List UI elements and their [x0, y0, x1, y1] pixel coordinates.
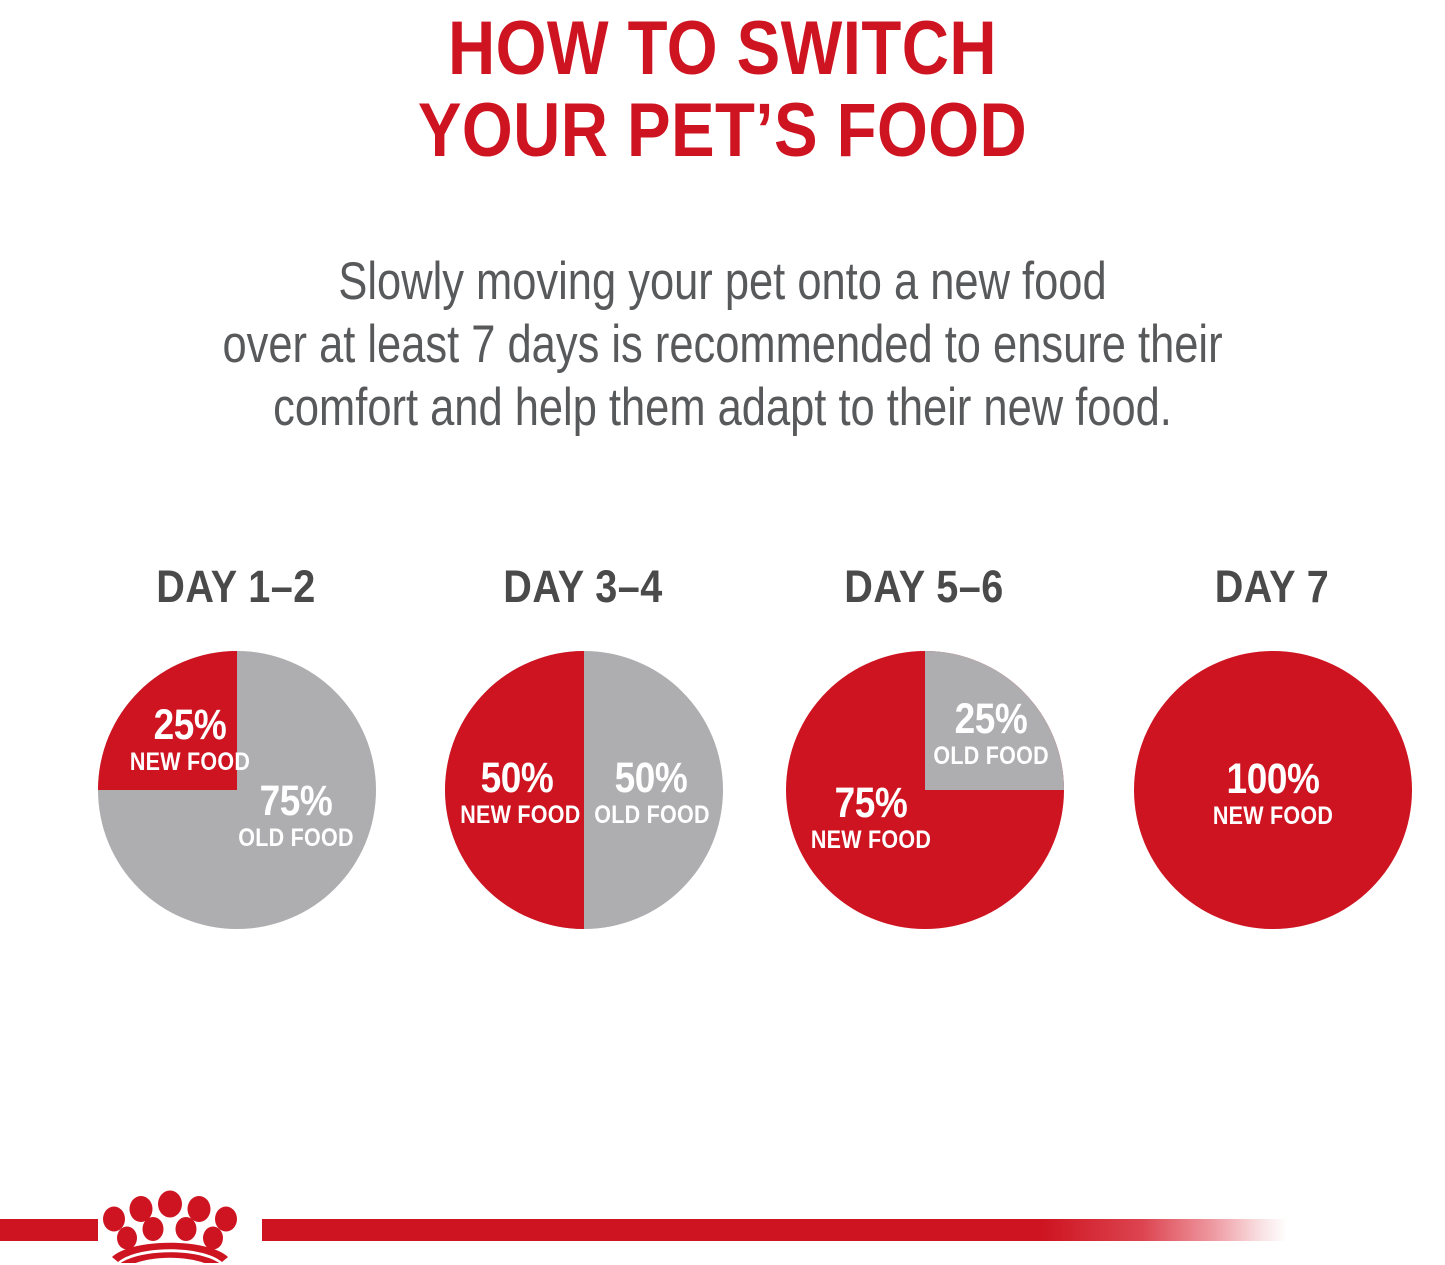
brand-bar-left — [0, 1219, 98, 1241]
subtitle-line-1: Slowly moving your pet onto a new food — [130, 250, 1315, 313]
subtitle: Slowly moving your pet onto a new food o… — [130, 250, 1315, 439]
pie-chart-day-5-6: DAY 5–6 25%OLD FOOD75%NEW FOOD — [774, 563, 1074, 963]
pie-segment-name: NEW FOOD — [130, 747, 250, 777]
pie-graphic-4: 100%NEW FOOD — [1134, 651, 1412, 929]
brand-bar-right — [262, 1219, 1445, 1241]
day-label-2: DAY 3–4 — [451, 563, 715, 611]
pie-segment-percent: 50% — [460, 756, 574, 800]
pie-chart-row: DAY 1–2 25%NEW FOOD75%OLD FOOD DAY 3–4 5… — [0, 563, 1445, 963]
pie-segment-label: 25%NEW FOOD — [130, 703, 250, 777]
pie-segment-name: NEW FOOD — [460, 800, 574, 830]
pie-segment-label: 50%NEW FOOD — [460, 756, 574, 830]
pie-segment-name: OLD FOOD — [236, 823, 356, 853]
pie-segment-label: 100%NEW FOOD — [1213, 757, 1333, 831]
brand-band — [0, 1219, 1445, 1241]
pie-segment-label: 50%OLD FOOD — [594, 756, 708, 830]
crown-icon — [96, 1183, 266, 1263]
pie-chart-day-3-4: DAY 3–4 50%NEW FOOD50%OLD FOOD — [433, 563, 733, 963]
pie-segment-label: 25%OLD FOOD — [933, 697, 1048, 771]
pie-chart-day-1-2: DAY 1–2 25%NEW FOOD75%OLD FOOD — [86, 563, 386, 963]
day-label-1: DAY 1–2 — [104, 563, 368, 611]
pie-segment-name: OLD FOOD — [594, 800, 708, 830]
day-label-3: DAY 5–6 — [792, 563, 1056, 611]
pie-graphic-1: 25%NEW FOOD75%OLD FOOD — [98, 651, 376, 929]
pie-segment-percent: 25% — [933, 697, 1048, 741]
pie-segment-label: 75%OLD FOOD — [236, 779, 356, 853]
pie-segment-percent: 50% — [594, 756, 708, 800]
pie-chart-day-7: DAY 7 100%NEW FOOD — [1122, 563, 1422, 963]
day-label-4: DAY 7 — [1140, 563, 1404, 611]
page-title: HOW TO SWITCH YOUR PET’S FOOD — [101, 8, 1344, 172]
pie-segment-percent: 25% — [130, 703, 250, 747]
pie-segment-name: NEW FOOD — [810, 825, 932, 855]
subtitle-line-3: comfort and help them adapt to their new… — [130, 376, 1315, 439]
subtitle-line-2: over at least 7 days is recommended to e… — [130, 313, 1315, 376]
page-title-line-2: YOUR PET’S FOOD — [101, 90, 1344, 172]
pie-segment-name: NEW FOOD — [1213, 801, 1333, 831]
pie-segment-percent: 75% — [810, 781, 932, 825]
pie-segment-percent: 100% — [1213, 757, 1333, 801]
pie-graphic-3: 25%OLD FOOD75%NEW FOOD — [786, 651, 1064, 929]
page-title-line-1: HOW TO SWITCH — [101, 8, 1344, 90]
royal-canin-crown-logo — [96, 1183, 266, 1263]
pie-graphic-2: 50%NEW FOOD50%OLD FOOD — [445, 651, 723, 929]
pie-segment-name: OLD FOOD — [933, 741, 1048, 771]
pie-segment-label: 75%NEW FOOD — [810, 781, 932, 855]
pie-segment-percent: 75% — [236, 779, 356, 823]
